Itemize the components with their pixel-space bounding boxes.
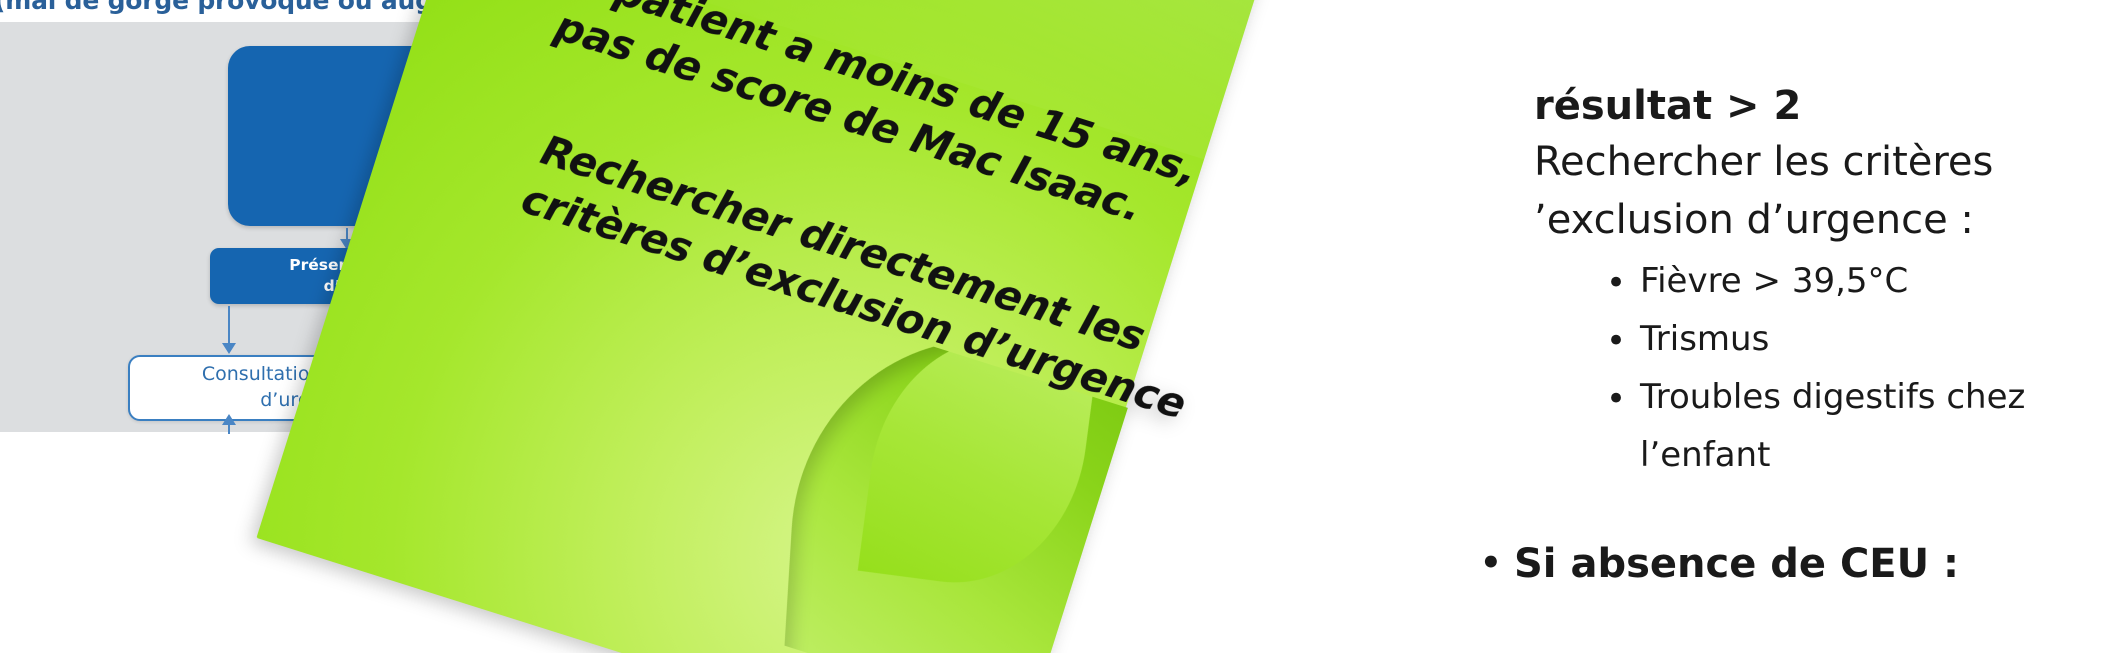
list-item-label: Si absence de CEU : [1514,542,1959,588]
flowchart-arrow-down-1 [346,228,348,240]
list-item-label: l’enfant [1640,436,1770,475]
bullet-icon: • [1480,0,1514,8]
flowchart-arrow-up-3 [228,424,230,434]
list-item-label: ’exclusion d’urgence : [1534,198,1974,244]
bullet-spacer [1606,436,1640,475]
list-item: • Fièvre > 39,5°C [1480,262,2105,305]
list-item: • Trismus [1480,320,2105,363]
list-item-label: Rechercher les critères [1534,140,1993,186]
list-item-label: Troubles digestifs chez [1640,378,2025,421]
list-item: • Si absence de CEU : [1480,542,2105,588]
list-item: • Score de Mac Isaac [1480,0,2105,8]
list-item-label: Trismus [1640,320,1769,363]
list-item-label: Fièvre > 39,5°C [1640,262,1908,305]
sticky-note-text: Si le patient a moins de 15 ans, pas de … [256,0,1313,653]
sticky-note[interactable]: Si le patient a moins de 15 ans, pas de … [256,0,1313,653]
bullet-icon: • [1480,542,1514,588]
list-item: Rechercher les critères [1480,140,2105,186]
slide-canvas: (mal de gorge provoqué ou augmenté par l… [0,0,2105,653]
bullet-icon: • [1606,378,1640,421]
flowchart-arrow-down-2 [228,306,230,344]
list-item: • Troubles digestifs chez [1480,378,2105,421]
bullet-icon: • [1606,262,1640,305]
list-item: résultat > 2 [1480,84,2105,130]
list-item-label: Score de Mac Isaac [1514,0,1899,8]
right-text-panel: • Score de Mac Isaac résultat > 2 Recher… [1480,0,2105,653]
list-item: ’exclusion d’urgence : [1480,198,2105,244]
list-item: l’enfant [1480,436,2105,475]
list-item-label: résultat > 2 [1534,84,1801,130]
bullet-icon: • [1606,320,1640,363]
